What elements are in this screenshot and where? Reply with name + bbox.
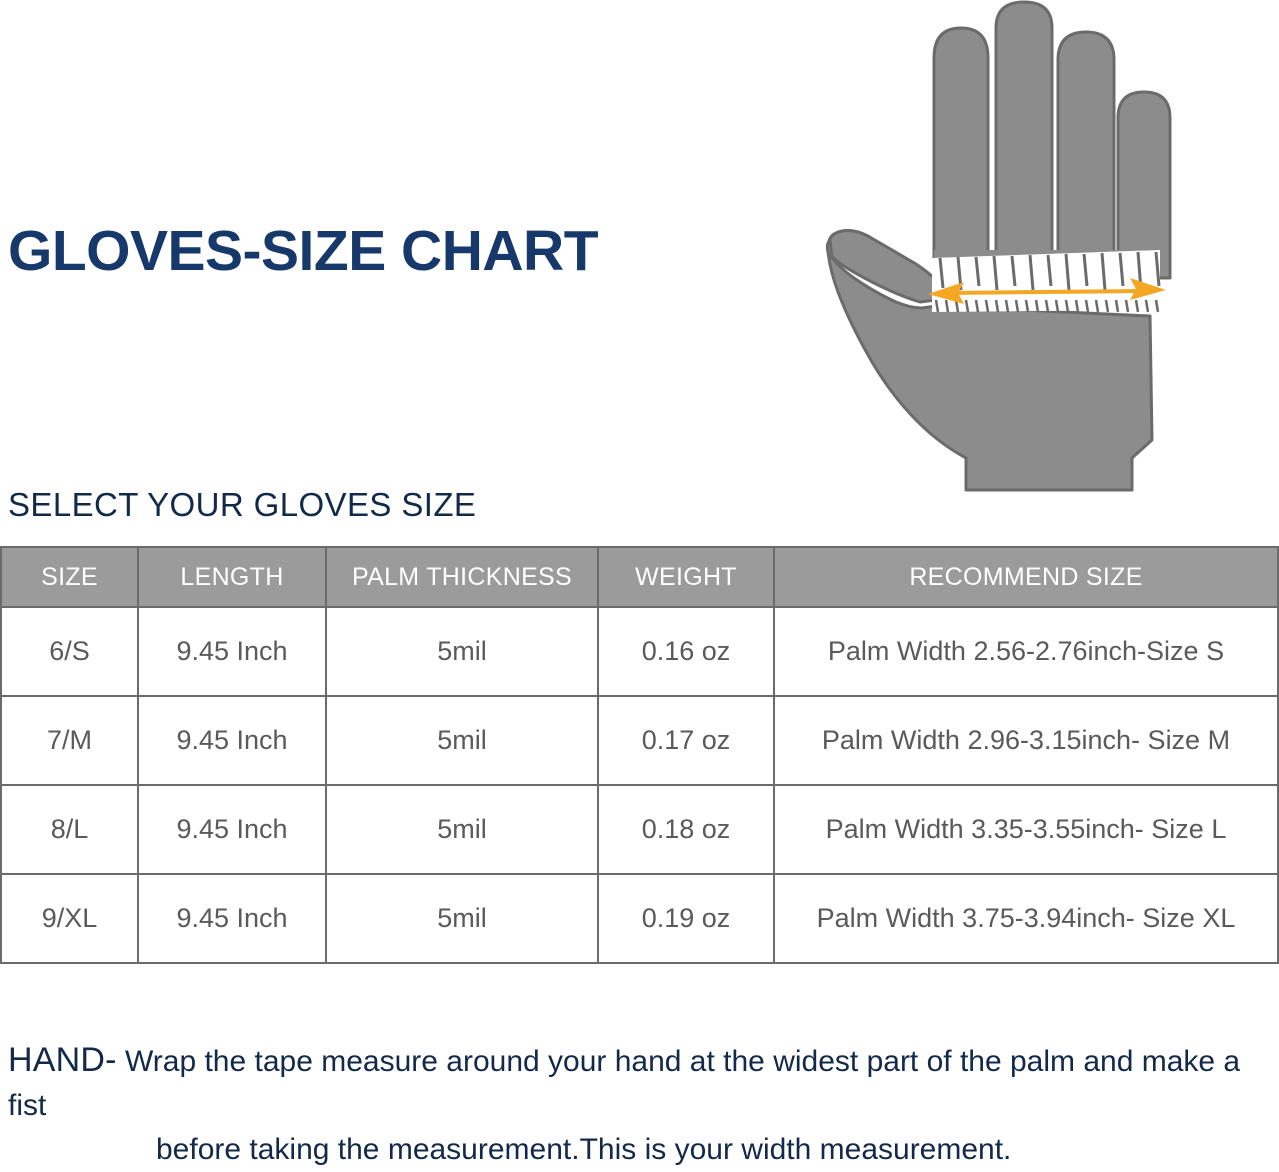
hand-shape-group: [826, 2, 1170, 490]
table-header-row: SIZE LENGTH PALM THICKNESS WEIGHT RECOMM…: [1, 547, 1278, 607]
middle-finger: [996, 2, 1052, 278]
cell-size: 8/L: [1, 785, 138, 874]
cell-weight: 0.17 oz: [598, 696, 774, 785]
cell-palm-thickness: 5mil: [326, 696, 598, 785]
cell-size: 6/S: [1, 607, 138, 696]
size-chart-table: SIZE LENGTH PALM THICKNESS WEIGHT RECOMM…: [0, 546, 1279, 964]
note-line-1: Wrap the tape measure around your hand a…: [8, 1045, 1240, 1122]
cell-recommend: Palm Width 2.56-2.76inch-Size S: [774, 607, 1278, 696]
table-row: 8/L 9.45 Inch 5mil 0.18 oz Palm Width 3.…: [1, 785, 1278, 874]
note-line-2: before taking the measurement.This is yo…: [8, 1128, 1270, 1172]
cell-palm-thickness: 5mil: [326, 607, 598, 696]
table-row: 9/XL 9.45 Inch 5mil 0.19 oz Palm Width 3…: [1, 874, 1278, 963]
cell-length: 9.45 Inch: [138, 607, 326, 696]
cell-weight: 0.19 oz: [598, 874, 774, 963]
cell-recommend: Palm Width 3.75-3.94inch- Size XL: [774, 874, 1278, 963]
table-row: 6/S 9.45 Inch 5mil 0.16 oz Palm Width 2.…: [1, 607, 1278, 696]
hand-measure-note: HAND- Wrap the tape measure around your …: [8, 1038, 1270, 1172]
cell-weight: 0.16 oz: [598, 607, 774, 696]
note-label: HAND-: [8, 1041, 117, 1079]
column-header-recommend-size: RECOMMEND SIZE: [774, 547, 1278, 607]
table-row: 7/M 9.45 Inch 5mil 0.17 oz Palm Width 2.…: [1, 696, 1278, 785]
ring-finger: [1058, 32, 1114, 278]
measuring-tape-group: [932, 250, 1160, 312]
cell-length: 9.45 Inch: [138, 874, 326, 963]
hand-diagram-svg: [800, 0, 1279, 500]
section-title: SELECT YOUR GLOVES SIZE: [8, 487, 476, 523]
column-header-size: SIZE: [1, 547, 138, 607]
cell-palm-thickness: 5mil: [326, 874, 598, 963]
cell-recommend: Palm Width 2.96-3.15inch- Size M: [774, 696, 1278, 785]
page-title: GLOVES-SIZE CHART: [8, 222, 598, 282]
column-header-palm-thickness: PALM THICKNESS: [326, 547, 598, 607]
index-finger: [934, 28, 988, 278]
cell-length: 9.45 Inch: [138, 696, 326, 785]
column-header-length: LENGTH: [138, 547, 326, 607]
cell-palm-thickness: 5mil: [326, 785, 598, 874]
column-header-weight: WEIGHT: [598, 547, 774, 607]
cell-length: 9.45 Inch: [138, 785, 326, 874]
cell-size: 9/XL: [1, 874, 138, 963]
cell-recommend: Palm Width 3.35-3.55inch- Size L: [774, 785, 1278, 874]
hand-measure-illustration: [800, 0, 1279, 500]
cell-weight: 0.18 oz: [598, 785, 774, 874]
cell-size: 7/M: [1, 696, 138, 785]
